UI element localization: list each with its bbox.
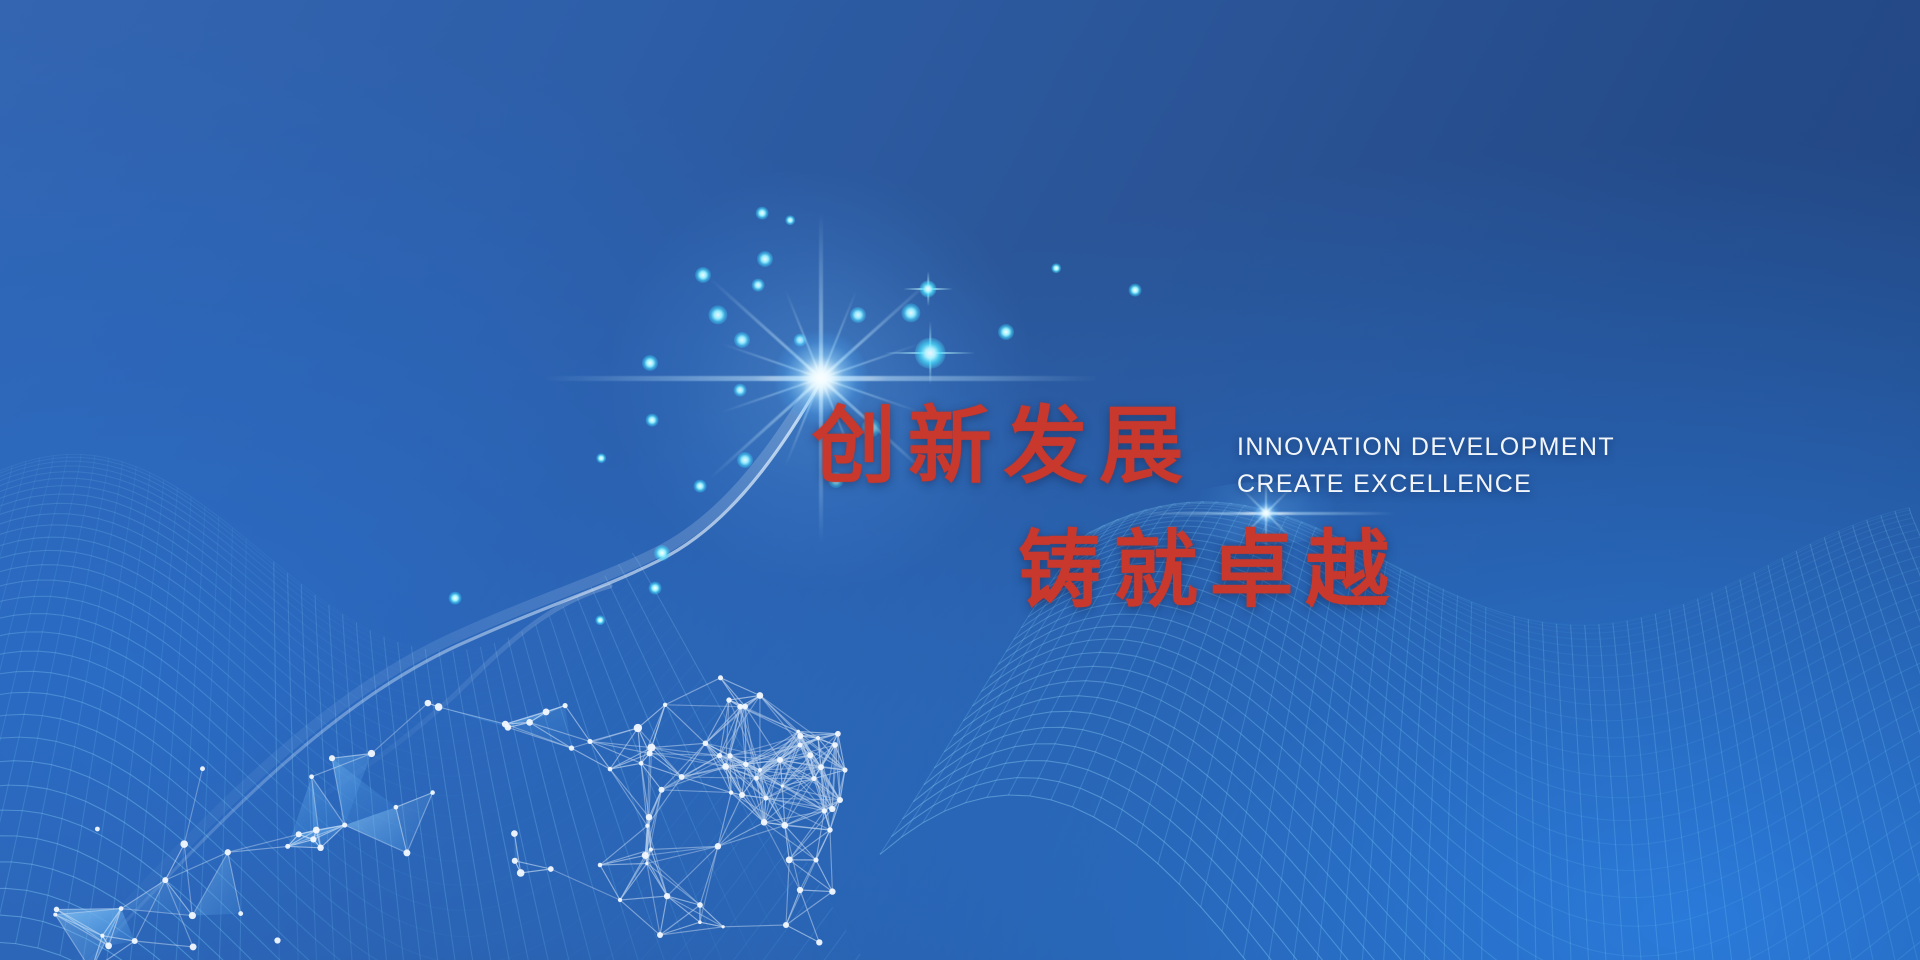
headline-chinese-line-2: 铸就卓越 <box>1018 528 1401 612</box>
banner-canvas: 创新发展 铸就卓越 INNOVATION DEVELOPMENT CREATE … <box>0 0 1920 960</box>
headline-english-line-2: CREATE EXCELLENCE <box>1237 470 1532 499</box>
headline-block: 创新发展 铸就卓越 INNOVATION DEVELOPMENT CREATE … <box>0 0 1920 960</box>
headline-chinese-line-1: 创新发展 <box>812 404 1195 488</box>
headline-english-line-1: INNOVATION DEVELOPMENT <box>1237 433 1615 462</box>
